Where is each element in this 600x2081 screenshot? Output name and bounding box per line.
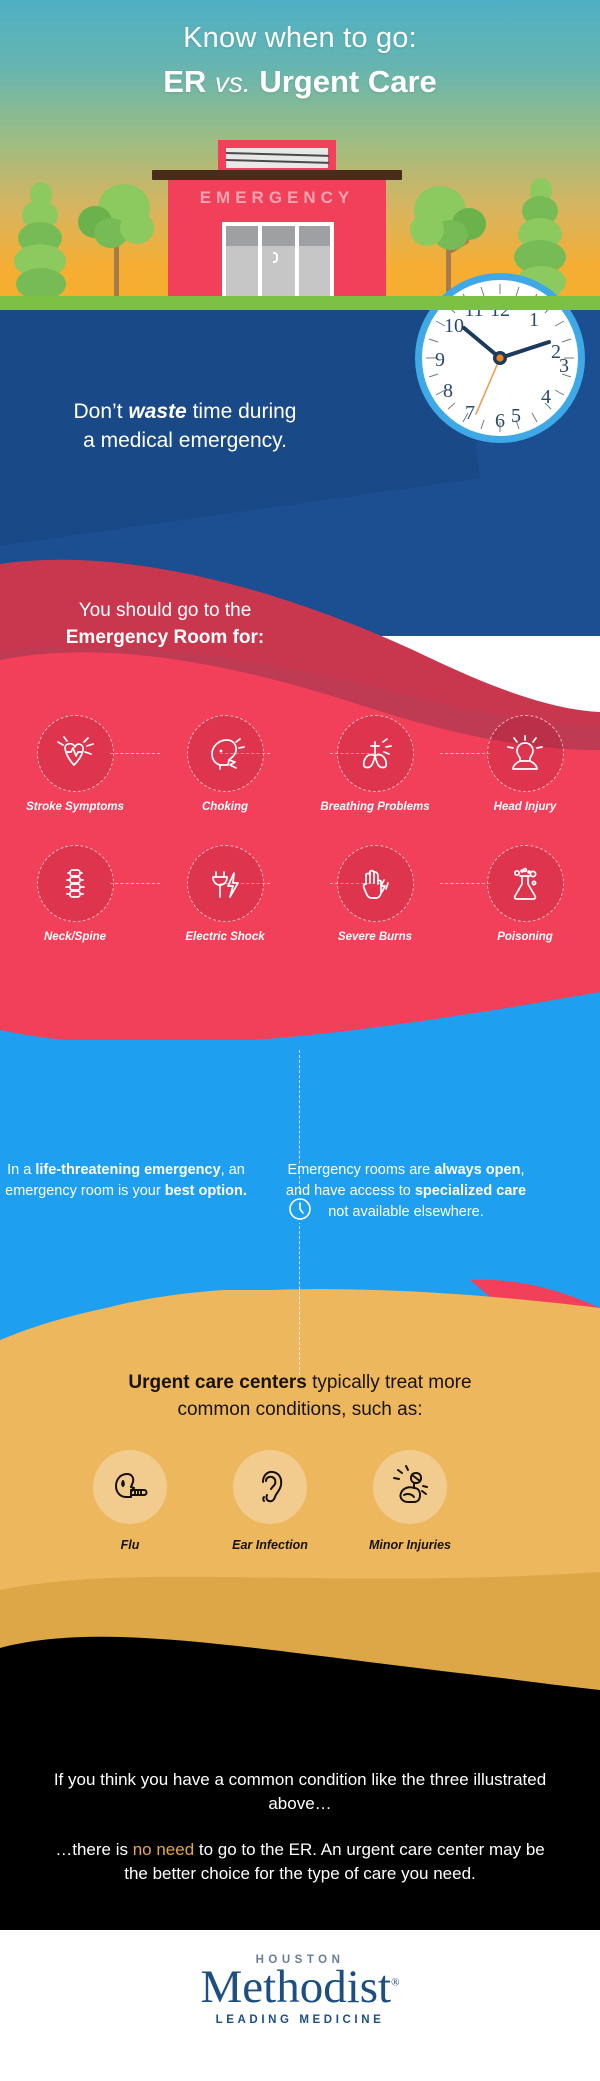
er-icon-row-2: Neck/Spine Electric Shock [0, 845, 600, 943]
logo-tagline-text: LEADING MEDICINE [0, 2014, 600, 2026]
ear-icon [233, 1450, 307, 1524]
svg-text:7: 7 [465, 402, 475, 424]
bandaged-thumb-icon [373, 1450, 447, 1524]
er-label-neck-spine: Neck/Spine [44, 931, 106, 943]
grass-strip [0, 296, 600, 310]
er-heading: You should go to the Emergency Room for: [0, 598, 330, 652]
heart-attack-icon [37, 715, 114, 792]
choking-head-icon [187, 715, 264, 792]
blue-left-d: best option. [165, 1183, 247, 1199]
urgent-label-minor-injuries: Minor Injuries [369, 1538, 451, 1552]
er-item-poisoning[interactable]: Poisoning [450, 845, 600, 943]
hero-title-line2: ER vs. Urgent Care [0, 64, 600, 100]
blue-right-a: Emergency rooms are [288, 1162, 435, 1178]
closing-text-2: …there is no need to go to the ER. An ur… [45, 1838, 555, 1886]
svg-text:6: 6 [495, 410, 505, 432]
logo-methodist-text: Methodist® [201, 1964, 400, 2012]
er-label-choking: Choking [202, 801, 248, 813]
tree-left [74, 184, 158, 304]
er-item-head-injury[interactable]: Head Injury [450, 715, 600, 813]
hero-title-uc: Urgent Care [251, 64, 437, 99]
urgent-icon-row: Flu Ear Infection [60, 1450, 480, 1552]
hero-title-vs: vs. [215, 67, 251, 98]
blue-right-e: not available elsewhere. [328, 1204, 484, 1220]
hero-title-er: ER [163, 64, 215, 99]
urgent-item-flu[interactable]: Flu [60, 1450, 200, 1552]
building-upper-window [226, 148, 328, 168]
svg-text:9: 9 [435, 349, 445, 371]
er-item-breathing-problems[interactable]: Breathing Problems [300, 715, 450, 813]
hero-title-block: Know when to go: ER vs. Urgent Care [0, 22, 600, 100]
urgent-item-ear-infection[interactable]: Ear Infection [200, 1450, 340, 1552]
hero-title-line1: Know when to go: [0, 22, 600, 55]
er-heading-line2: Emergency Room for: [66, 627, 264, 648]
urgent-label-flu: Flu [121, 1538, 140, 1552]
er-label-severe-burns: Severe Burns [338, 931, 412, 943]
waste-time-text: Don’t waste time during a medical emerge… [20, 398, 350, 456]
urgent-item-minor-injuries[interactable]: Minor Injuries [340, 1450, 480, 1552]
clock-badge-icon [286, 1195, 314, 1223]
er-item-stroke-symptoms[interactable]: Stroke Symptoms [0, 715, 150, 813]
lungs-icon [337, 715, 414, 792]
urgent-heading-line2: common conditions, such as: [177, 1399, 422, 1420]
closing-section: If you think you have a common condition… [0, 1630, 600, 1930]
door-split-left [258, 226, 262, 300]
logo-registered-mark: ® [391, 1976, 399, 1988]
building-sign-text: EMERGENCY [168, 188, 386, 208]
waste-a: Don’t [74, 400, 129, 423]
blue-left-b: life-threatening emergency [35, 1162, 220, 1178]
er-label-poisoning: Poisoning [497, 931, 553, 943]
er-item-electric-shock[interactable]: Electric Shock [150, 845, 300, 943]
closing-2a: …there is [55, 1840, 132, 1859]
blue-right-b: always open [434, 1162, 520, 1178]
urgent-label-ear-infection: Ear Infection [232, 1538, 308, 1552]
er-label-head-injury: Head Injury [494, 801, 557, 813]
door-split-right [295, 226, 299, 300]
door-glass-top [226, 226, 330, 246]
flu-thermometer-icon [93, 1450, 167, 1524]
blue-right-d: specialized care [415, 1183, 526, 1199]
er-section: You should go to the Emergency Room for: [0, 540, 600, 1100]
blue-column-left: In a life-threatening emergency, an emer… [0, 1160, 266, 1223]
er-label-stroke: Stroke Symptoms [26, 801, 124, 813]
er-heading-line1: You should go to the [79, 600, 252, 621]
svg-text:3: 3 [559, 355, 569, 377]
hero-section: EMERGENCY Know when to go: [0, 0, 600, 310]
poison-flask-icon [487, 845, 564, 922]
closing-2-highlight: no need [133, 1840, 194, 1859]
building-roof [152, 170, 402, 180]
shrub-left [14, 182, 74, 300]
er-item-severe-burns[interactable]: Severe Burns [300, 845, 450, 943]
waste-c: time during [187, 400, 297, 423]
electric-plug-icon [187, 845, 264, 922]
er-item-neck-spine[interactable]: Neck/Spine [0, 845, 150, 943]
er-label-electric-shock: Electric Shock [185, 931, 264, 943]
infographic-root: EMERGENCY Know when to go: [0, 0, 600, 2081]
logo-methodist-word: Methodist [201, 1961, 392, 2013]
urgent-heading-rest: typically treat more [307, 1372, 472, 1393]
er-label-breathing: Breathing Problems [320, 801, 429, 813]
er-icon-row-1: Stroke Symptoms Choking [0, 715, 600, 813]
svg-text:8: 8 [443, 380, 453, 402]
waste-emph: waste [128, 400, 186, 423]
spine-icon [37, 845, 114, 922]
svg-text:1: 1 [529, 309, 539, 331]
waste-d: a medical emergency. [83, 429, 287, 452]
closing-text-1: If you think you have a common condition… [45, 1768, 555, 1816]
emergency-building: EMERGENCY [152, 140, 402, 300]
svg-text:10: 10 [444, 315, 464, 337]
urgent-heading: Urgent care centers typically treat more… [50, 1370, 550, 1424]
footer-section: HOUSTON Methodist® LEADING MEDICINE [0, 1930, 600, 2081]
urgent-heading-bold: Urgent care centers [128, 1372, 306, 1393]
houston-methodist-logo: HOUSTON Methodist® LEADING MEDICINE [0, 1954, 600, 2026]
svg-text:5: 5 [511, 405, 521, 427]
blue-left-a: In a [7, 1162, 35, 1178]
svg-text:4: 4 [541, 386, 551, 408]
head-injury-icon [487, 715, 564, 792]
er-item-choking[interactable]: Choking [150, 715, 300, 813]
burned-hand-icon [337, 845, 414, 922]
